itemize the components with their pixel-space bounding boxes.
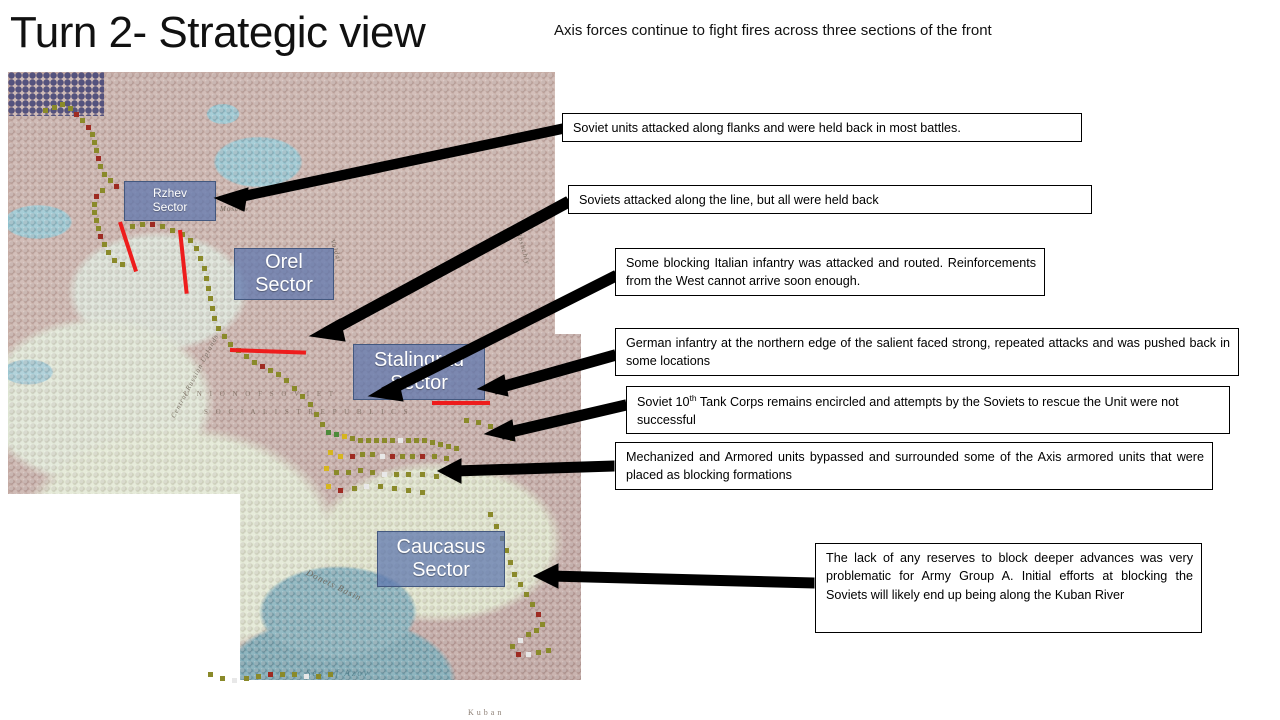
callout-5-text-a: Soviet 10	[637, 395, 690, 409]
callout-6-text: Mechanized and Armored units bypassed an…	[626, 450, 1204, 482]
sector-label-stalingrad[interactable]: Stalingrad Sector	[353, 344, 485, 400]
sector-label-caucasus[interactable]: Caucasus Sector	[377, 531, 505, 587]
callout-2-text: Soviets attacked along the line, but all…	[579, 193, 879, 207]
callout-army-group-a-reserves: The lack of any reserves to block deeper…	[815, 543, 1202, 633]
map-label-moscow: Moscow	[220, 205, 249, 213]
sector-rzhev-line1: Rzhev	[125, 187, 215, 201]
sector-caucasus-line1: Caucasus	[378, 536, 504, 559]
red-front-line-4	[432, 401, 490, 405]
sector-caucasus-line2: Sector	[378, 559, 504, 582]
callout-3-text: Some blocking Italian infantry was attac…	[626, 256, 1036, 288]
page-title: Turn 2- Strategic view	[10, 8, 425, 58]
sector-stalingrad-line2: Sector	[354, 372, 484, 395]
sector-label-orel[interactable]: Orel Sector	[234, 248, 334, 300]
sector-stalingrad-line1: Stalingrad	[354, 349, 484, 372]
callout-soviets-along-line: Soviets attacked along the line, but all…	[568, 185, 1092, 214]
callout-5-text-b: Tank Corps remains encircled and attempt…	[637, 395, 1179, 427]
callout-mechanized-armored-bypass: Mechanized and Armored units bypassed an…	[615, 442, 1213, 490]
sector-label-rzhev[interactable]: Rzhev Sector	[124, 181, 216, 221]
callout-1-text: Soviet units attacked along flanks and w…	[573, 121, 961, 135]
map-label-ussr-line2: S O C I A L I S T R E P U B L I C S	[204, 408, 410, 416]
callout-7-text: The lack of any reserves to block deeper…	[826, 551, 1193, 602]
page-subtitle: Axis forces continue to fight fires acro…	[554, 22, 992, 39]
callout-10th-tank-corps: Soviet 10th Tank Corps remains encircled…	[626, 386, 1230, 434]
callout-5-ordinal-suffix: th	[690, 393, 697, 403]
sector-rzhev-line2: Sector	[125, 201, 215, 215]
strategic-map[interactable]: Moscow Valdai Obshchiy Central Russian U…	[8, 72, 582, 680]
map-label-kuban: Kuban	[468, 708, 504, 717]
callout-soviet-flank-attacks: Soviet units attacked along flanks and w…	[562, 113, 1082, 142]
callout-german-infantry-salient: German infantry at the northern edge of …	[615, 328, 1239, 376]
callout-italian-infantry: Some blocking Italian infantry was attac…	[615, 248, 1045, 296]
map-label-ussr-line1: U N I O N O F S O V I E T	[184, 390, 336, 398]
callout-4-text: German infantry at the northern edge of …	[626, 336, 1230, 368]
sector-orel-line2: Sector	[235, 274, 333, 297]
sector-orel-line1: Orel	[235, 251, 333, 274]
